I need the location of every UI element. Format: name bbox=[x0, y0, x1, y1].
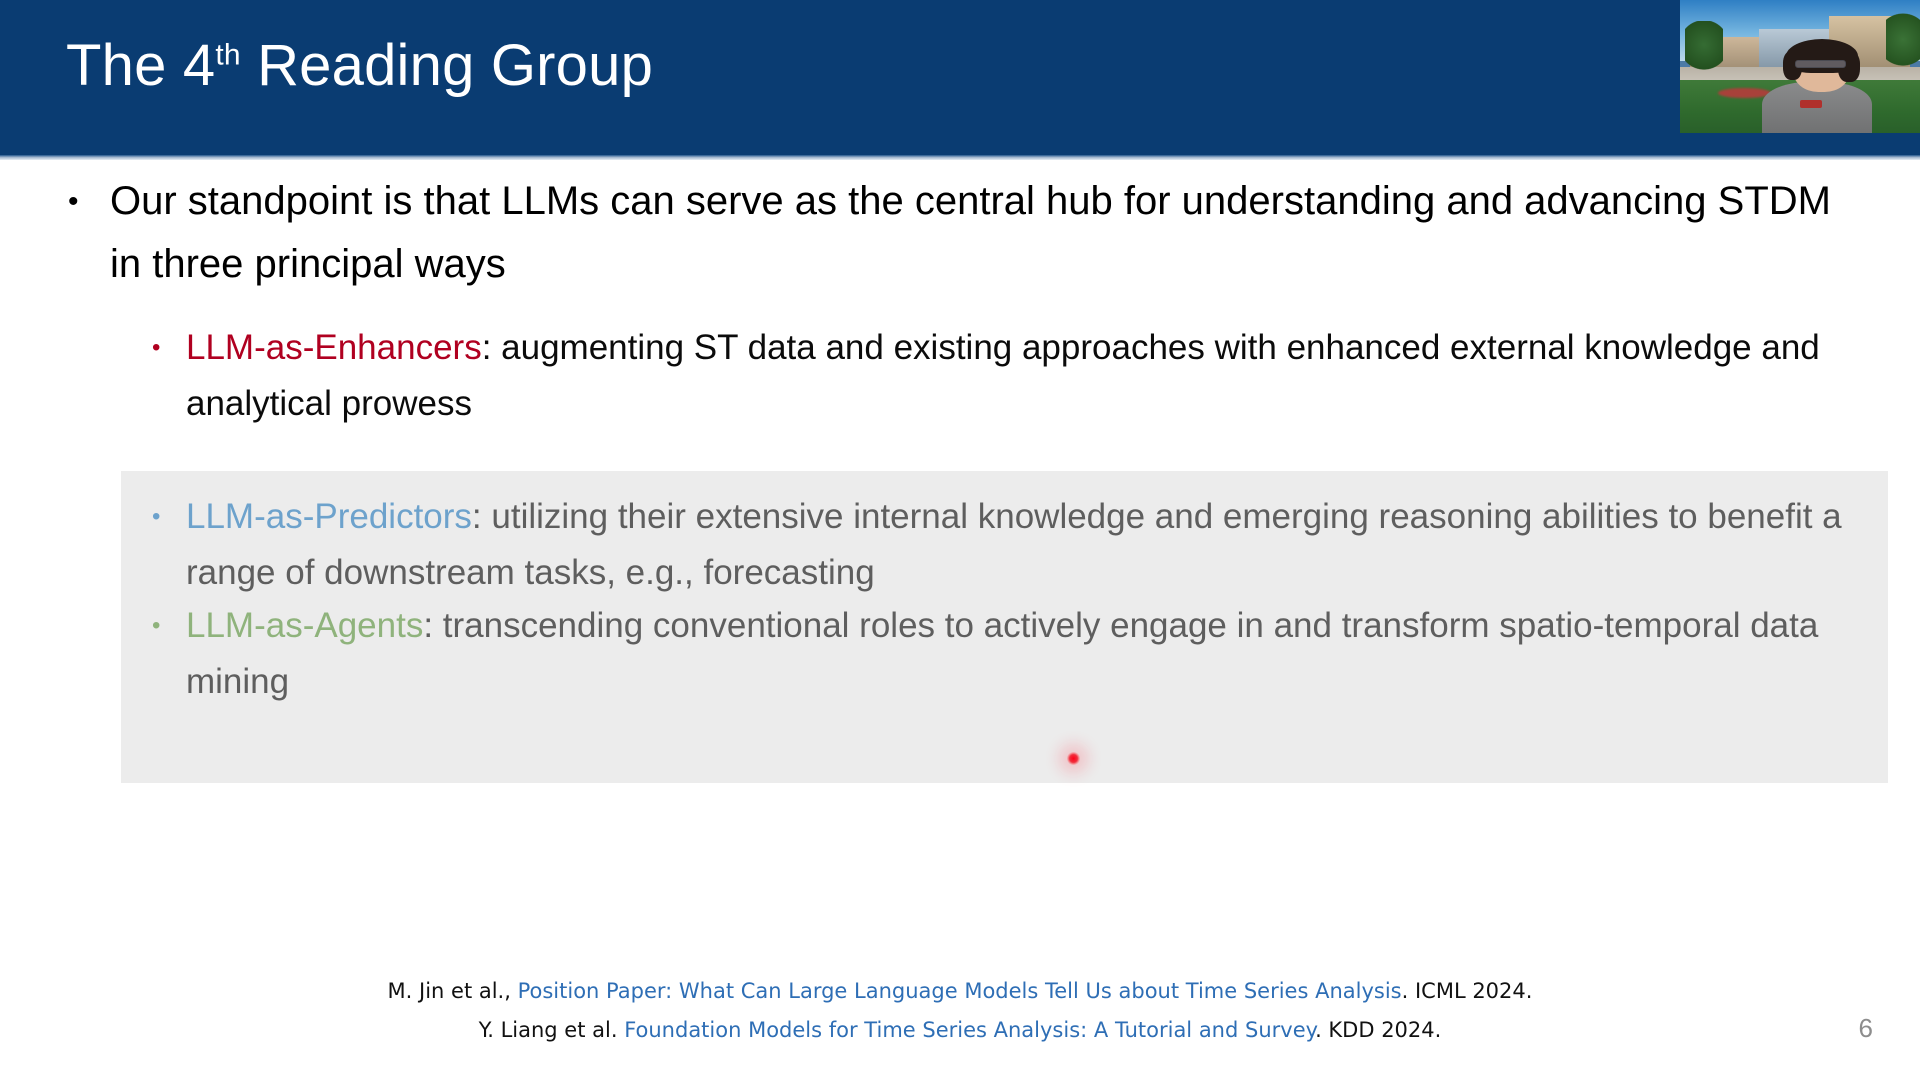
label-llm-as-predictors: LLM-as-Predictors bbox=[186, 497, 472, 536]
citation-1-venue: . ICML 2024. bbox=[1402, 979, 1533, 1003]
sub-bullet-text-enhancers: LLM-as-Enhancers: augmenting ST data and… bbox=[186, 320, 1872, 432]
slide-title-rest: Reading Group bbox=[241, 33, 653, 98]
sub-bullet-text-predictors: LLM-as-Predictors: utilizing their exten… bbox=[186, 489, 1872, 601]
webcam-tree-right bbox=[1886, 13, 1920, 72]
webcam-tree-left bbox=[1685, 21, 1723, 74]
main-bullet-marker: • bbox=[68, 170, 79, 233]
slide-page-number: 6 bbox=[1859, 1013, 1873, 1044]
sub-bullet-marker-predictors: • bbox=[152, 489, 160, 545]
citation-footnotes: M. Jin et al., Position Paper: What Can … bbox=[0, 972, 1920, 1050]
sub-bullet-separator-predictors: : bbox=[472, 497, 491, 536]
sub-bullet-separator-agents: : bbox=[423, 606, 442, 645]
webcam-presenter-glasses bbox=[1795, 60, 1845, 68]
slide-title-main: The 4 bbox=[66, 33, 215, 98]
sub-bullet-separator-enhancers: : bbox=[482, 328, 501, 367]
webcam-presenter-lanyard bbox=[1800, 100, 1822, 108]
slide-header-band: The 4th Reading Group bbox=[0, 0, 1920, 160]
sub-bullet-item-agents: • LLM-as-Agents: transcending convention… bbox=[152, 598, 1872, 710]
citation-1-paper-title[interactable]: Position Paper: What Can Large Language … bbox=[518, 979, 1402, 1003]
sub-bullet-marker-enhancers: • bbox=[152, 320, 160, 376]
slide-title-superscript: th bbox=[215, 39, 240, 72]
sub-bullet-item-predictors: • LLM-as-Predictors: utilizing their ext… bbox=[152, 489, 1872, 601]
slide-canvas: The 4th Reading Group • bbox=[0, 0, 1920, 1080]
citation-2-authors: Y. Liang et al. bbox=[479, 1018, 625, 1042]
citation-line-1: M. Jin et al., Position Paper: What Can … bbox=[0, 972, 1920, 1011]
label-llm-as-enhancers: LLM-as-Enhancers bbox=[186, 328, 482, 367]
laser-pointer-dot bbox=[1067, 752, 1080, 765]
sub-bullet-marker-agents: • bbox=[152, 598, 160, 654]
citation-2-venue: . KDD 2024. bbox=[1315, 1018, 1441, 1042]
main-bullet-item: • Our standpoint is that LLMs can serve … bbox=[68, 170, 1858, 296]
sub-bullet-item-enhancers: • LLM-as-Enhancers: augmenting ST data a… bbox=[152, 320, 1872, 432]
label-llm-as-agents: LLM-as-Agents bbox=[186, 606, 423, 645]
citation-line-2: Y. Liang et al. Foundation Models for Ti… bbox=[0, 1011, 1920, 1050]
citation-1-authors: M. Jin et al., bbox=[388, 979, 518, 1003]
main-bullet-text: Our standpoint is that LLMs can serve as… bbox=[110, 170, 1858, 296]
sub-bullet-text-agents: LLM-as-Agents: transcending conventional… bbox=[186, 598, 1872, 710]
slide-title: The 4th Reading Group bbox=[66, 36, 653, 97]
citation-2-paper-title[interactable]: Foundation Models for Time Series Analys… bbox=[624, 1018, 1315, 1042]
presenter-webcam-overlay bbox=[1680, 0, 1920, 133]
